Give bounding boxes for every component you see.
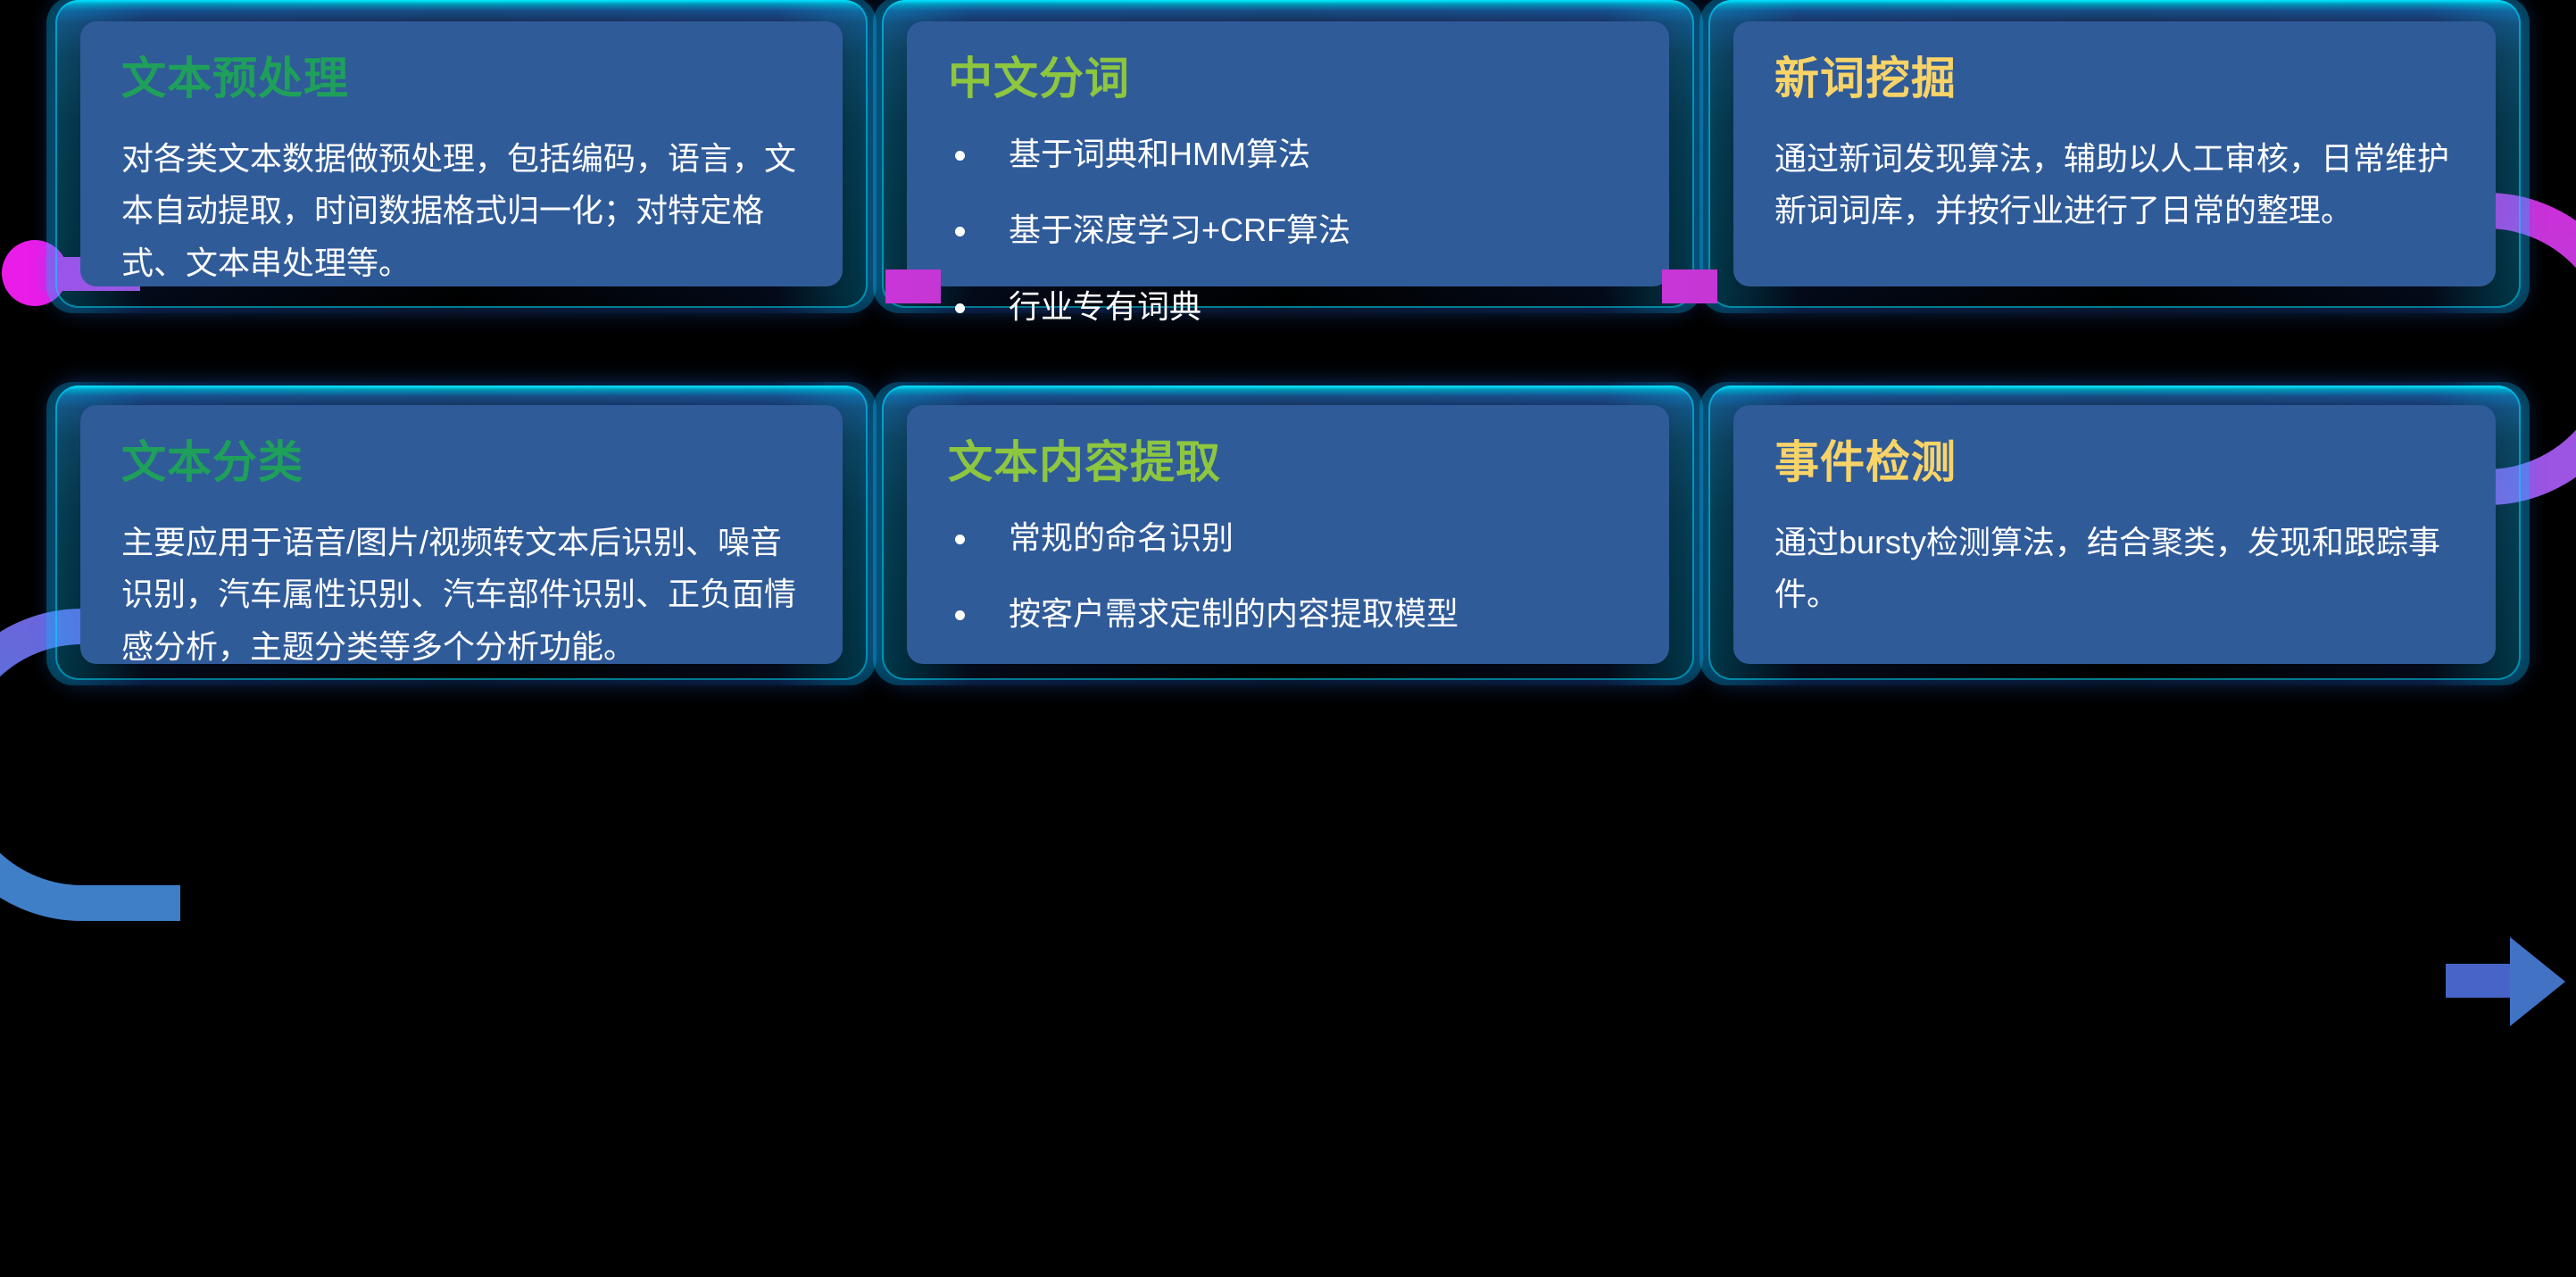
list-item: 常规的命名识别 [948,517,1630,560]
diagram-canvas: 文本预处理 对各类文本数据做预处理，包括编码，语言，文本自动提取，时间数据格式归… [0,0,2576,1277]
card-body-new-word-mining: 通过新词发现算法，辅助以人工审核，日常维护新词词库，并按行业进行了日常的整理。 [1774,133,2456,237]
card-frame-chinese-word-segmentation[interactable]: 中文分词 基于词典和HMM算法 基于深度学习+CRF算法 行业专有词典 [882,0,1694,308]
card-title-text-content-extraction: 文本内容提取 [948,439,1630,486]
card-row-bottom: 文本分类 主要应用于语音/图片/视频转文本后识别、噪音识别，汽车属性识别、汽车部… [55,386,2521,680]
card-title-new-word-mining: 新词挖掘 [1774,55,2456,103]
card-frame-text-classification[interactable]: 文本分类 主要应用于语音/图片/视频转文本后识别、噪音识别，汽车属性识别、汽车部… [55,386,868,680]
card-title-chinese-word-segmentation: 中文分词 [948,55,1630,103]
card-body-event-detection: 通过bursty检测算法，结合聚类，发现和跟踪事件。 [1774,517,2456,621]
card-bullets-chinese-word-segmentation: 基于词典和HMM算法 基于深度学习+CRF算法 行业专有词典 [948,133,1630,328]
list-item: 按客户需求定制的内容提取模型 [948,593,1630,635]
card-frame-text-preprocessing[interactable]: 文本预处理 对各类文本数据做预处理，包括编码，语言，文本自动提取，时间数据格式归… [55,0,868,308]
card-row-top: 文本预处理 对各类文本数据做预处理，包括编码，语言，文本自动提取，时间数据格式归… [55,0,2521,308]
list-item: 基于词典和HMM算法 [948,133,1630,176]
end-arrow-bar-icon [2446,964,2515,998]
card-text-preprocessing[interactable]: 文本预处理 对各类文本数据做预处理，包括编码，语言，文本自动提取，时间数据格式归… [80,21,843,286]
list-item: 行业专有词典 [948,286,1630,328]
card-title-text-preprocessing: 文本预处理 [121,55,803,103]
card-frame-new-word-mining[interactable]: 新词挖掘 通过新词发现算法，辅助以人工审核，日常维护新词词库，并按行业进行了日常… [1708,0,2521,308]
card-body-text-classification: 主要应用于语音/图片/视频转文本后识别、噪音识别，汽车属性识别、汽车部件识别、正… [121,517,803,674]
card-frame-event-detection[interactable]: 事件检测 通过bursty检测算法，结合聚类，发现和跟踪事件。 [1708,386,2521,680]
card-text-classification[interactable]: 文本分类 主要应用于语音/图片/视频转文本后识别、噪音识别，汽车属性识别、汽车部… [80,405,843,664]
list-item: 基于深度学习+CRF算法 [948,209,1630,252]
card-title-event-detection: 事件检测 [1774,439,2456,486]
card-text-content-extraction[interactable]: 文本内容提取 常规的命名识别 按客户需求定制的内容提取模型 [907,405,1669,664]
end-arrow-head-icon [2510,937,2565,1026]
card-new-word-mining[interactable]: 新词挖掘 通过新词发现算法，辅助以人工审核，日常维护新词词库，并按行业进行了日常… [1733,21,2496,286]
card-bullets-text-content-extraction: 常规的命名识别 按客户需求定制的内容提取模型 [948,517,1630,635]
connector-pill-1 [885,269,941,303]
card-title-text-classification: 文本分类 [121,439,803,486]
card-body-text-preprocessing: 对各类文本数据做预处理，包括编码，语言，文本自动提取，时间数据格式归一化；对特定… [121,133,803,290]
card-event-detection[interactable]: 事件检测 通过bursty检测算法，结合聚类，发现和跟踪事件。 [1733,405,2496,664]
card-frame-text-content-extraction[interactable]: 文本内容提取 常规的命名识别 按客户需求定制的内容提取模型 [882,386,1694,680]
connector-pill-2 [1662,269,1717,303]
card-chinese-word-segmentation[interactable]: 中文分词 基于词典和HMM算法 基于深度学习+CRF算法 行业专有词典 [907,21,1669,286]
